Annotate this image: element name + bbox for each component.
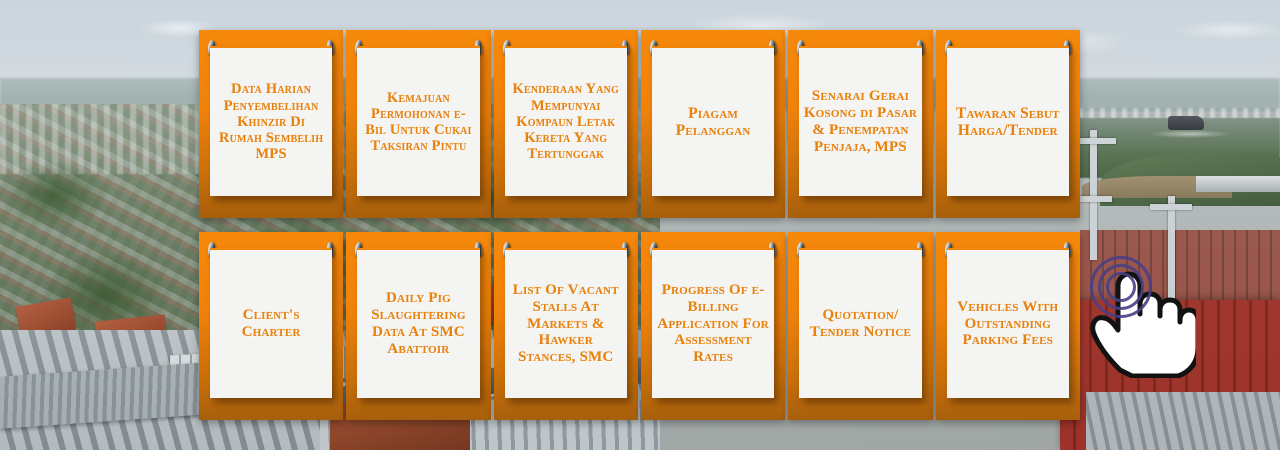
card-list-of-vacant-stalls[interactable]: List Of Vacant Stalls At Markets & Hawke… (494, 232, 638, 420)
riverside-warehouse (1196, 176, 1280, 192)
container-stack-far (1080, 230, 1280, 310)
card-paper: Piagam Pelanggan (652, 46, 774, 196)
card-paper: Quotation/ Tender Notice (799, 248, 921, 398)
port-crane (1168, 196, 1175, 306)
card-piagam-pelanggan[interactable]: Piagam Pelanggan (641, 30, 785, 218)
quick-links-grid: Data Harian Penyembelihan Khinzir Di Rum… (199, 30, 1080, 420)
tree-cluster (0, 160, 110, 230)
card-title: List Of Vacant Stalls At Markets & Hawke… (509, 282, 623, 366)
port-crane-arm (1150, 204, 1192, 210)
card-title: Data Harian Penyembelihan Khinzir Di Rum… (214, 81, 328, 162)
card-daily-pig-slaughtering-data[interactable]: Daily Pig Slaughtering Data At SMC Abatt… (346, 232, 490, 420)
boat-wake (1150, 130, 1230, 138)
card-paper: Kenderaan Yang Mempunyai Kompaun Letak K… (505, 46, 627, 196)
card-paper: Kemajuan Permohonan e-Bil Untuk Cukai Ta… (357, 46, 479, 196)
card-paper: Daily Pig Slaughtering Data At SMC Abatt… (357, 248, 479, 398)
card-kemajuan-permohonan-ebil[interactable]: Kemajuan Permohonan e-Bil Untuk Cukai Ta… (346, 30, 490, 218)
card-title: Kenderaan Yang Mempunyai Kompaun Letak K… (509, 81, 623, 162)
card-paper: Tawaran Sebut Harga/Tender (947, 46, 1069, 196)
card-title: Daily Pig Slaughtering Data At SMC Abatt… (361, 290, 475, 357)
card-title: Senarai Gerai Kosong di Pasar & Penempat… (803, 88, 917, 155)
card-title: Progress Of e-Billing Application For As… (656, 282, 770, 366)
card-clients-charter[interactable]: Client's Charter (199, 232, 343, 420)
card-paper: Progress Of e-Billing Application For As… (652, 248, 774, 398)
card-paper: Client's Charter (210, 248, 332, 398)
card-senarai-gerai-kosong[interactable]: Senarai Gerai Kosong di Pasar & Penempat… (788, 30, 932, 218)
card-paper: Data Harian Penyembelihan Khinzir Di Rum… (210, 46, 332, 196)
port-crane-arm (1076, 196, 1112, 202)
card-title: Quotation/ Tender Notice (803, 307, 917, 341)
card-paper: List Of Vacant Stalls At Markets & Hawke… (505, 248, 627, 398)
card-vehicles-with-outstanding-parking-fees[interactable]: Vehicles With Outstanding Parking Fees (936, 232, 1080, 420)
card-title: Kemajuan Permohonan e-Bil Untuk Cukai Ta… (361, 90, 475, 155)
card-kenderaan-kompaun-letak-kereta[interactable]: Kenderaan Yang Mempunyai Kompaun Letak K… (494, 30, 638, 218)
card-paper: Senarai Gerai Kosong di Pasar & Penempat… (799, 46, 921, 196)
card-quotation-tender-notice[interactable]: Quotation/ Tender Notice (788, 232, 932, 420)
wharf (1086, 392, 1280, 450)
card-tawaran-sebut-harga-tender[interactable]: Tawaran Sebut Harga/Tender (936, 30, 1080, 218)
card-title: Client's Charter (214, 307, 328, 341)
river-barge (1168, 116, 1204, 130)
card-title: Piagam Pelanggan (656, 105, 770, 140)
card-progress-of-ebilling-application[interactable]: Progress Of e-Billing Application For As… (641, 232, 785, 420)
card-title: Tawaran Sebut Harga/Tender (951, 105, 1065, 140)
card-data-harian-penyembelihan-khinzir[interactable]: Data Harian Penyembelihan Khinzir Di Rum… (199, 30, 343, 218)
card-title: Vehicles With Outstanding Parking Fees (951, 299, 1065, 349)
card-paper: Vehicles With Outstanding Parking Fees (947, 248, 1069, 398)
port-crane (1090, 130, 1097, 260)
